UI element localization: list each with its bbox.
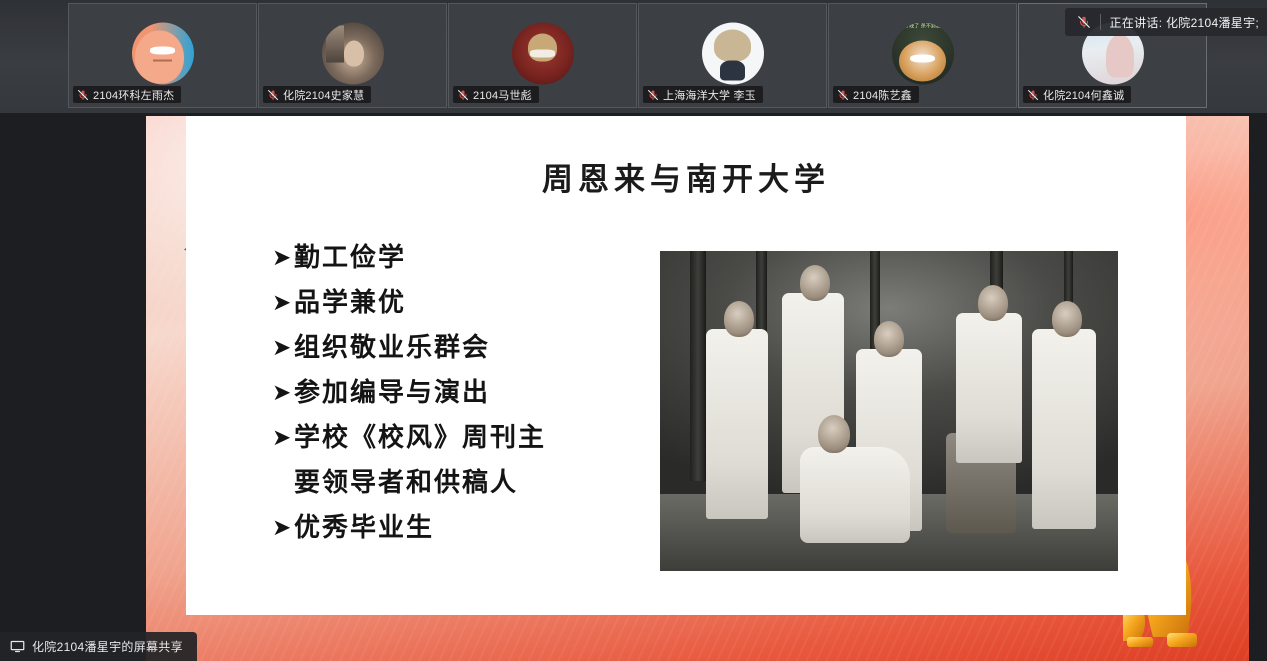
bullet-item: ➤ 勤工俭学 xyxy=(272,241,672,275)
tree xyxy=(690,251,706,481)
participant-name: 2104马世彪 xyxy=(473,87,532,103)
avatar-caption: 今晚了 杀不到我 xyxy=(904,24,940,30)
participant-name: 化院2104何鑫诚 xyxy=(1043,87,1124,103)
bullet-item: ➤ 组织敬业乐群会 xyxy=(272,331,672,365)
bullet-marker-icon: ➤ xyxy=(272,511,294,545)
mic-muted-icon xyxy=(77,89,89,101)
active-speaker-banner: 正在讲话: 化院2104潘星宇; xyxy=(1065,8,1267,36)
avatar xyxy=(702,22,764,84)
bullet-item: ➤ 优秀毕业生 xyxy=(272,511,672,545)
bullet-marker-icon: ➤ xyxy=(272,331,294,365)
bullet-marker-icon: ➤ xyxy=(272,286,294,320)
cat-meme-avatar: 今晚了 杀不到我 xyxy=(892,22,954,84)
bullet-item: ➤ 学校《校风》周刊主 xyxy=(272,421,672,455)
mic-muted-icon xyxy=(267,89,279,101)
participant-name-plate: 2104马世彪 xyxy=(453,86,539,103)
figure-head xyxy=(874,321,904,357)
bullet-text: 学校《校风》周刊主 xyxy=(294,421,546,455)
bullet-text: 组织敬业乐群会 xyxy=(294,331,490,365)
participant-name-plate: 2104陈艺鑫 xyxy=(833,86,919,103)
avatar xyxy=(132,22,194,84)
meeting-window: 2104环科左雨杰 化院2104史家慧 xyxy=(0,0,1267,661)
participant-name-plate: 化院2104何鑫诚 xyxy=(1023,86,1131,103)
mic-muted-icon xyxy=(1077,15,1091,29)
patrick-star-avatar xyxy=(132,22,194,84)
photo-portrait-avatar xyxy=(322,22,384,84)
figure-head xyxy=(1052,301,1082,337)
avatar xyxy=(322,22,384,84)
bullet-item-continuation: 要领导者和供稿人 xyxy=(272,466,672,500)
participant-name: 上海海洋大学 李玉 xyxy=(663,87,756,103)
avatar: 今晚了 杀不到我 xyxy=(892,22,954,84)
screen-share-icon xyxy=(10,640,25,653)
figure-head xyxy=(978,285,1008,321)
bullet-text: 要领导者和供稿人 xyxy=(294,466,518,500)
bullet-text: 勤工俭学 xyxy=(294,241,406,275)
mic-muted-icon xyxy=(457,89,469,101)
figure xyxy=(1032,329,1096,529)
bullet-marker-icon: ➤ xyxy=(272,421,294,455)
mic-muted-icon xyxy=(647,89,659,101)
anime-red-avatar xyxy=(512,22,574,84)
shared-screen-stage: 周恩来与南开大学 ➤ 勤工俭学 ➤ 品学兼优 ➤ 组织敬业乐群会 xyxy=(0,113,1267,661)
bullet-text: 品学兼优 xyxy=(294,286,406,320)
participant-tile[interactable]: 上海海洋大学 李玉 xyxy=(638,3,827,108)
bullet-item: ➤ 参加编导与演出 xyxy=(272,376,672,410)
banner-divider xyxy=(1100,14,1101,30)
figure-head xyxy=(800,265,830,301)
avatar xyxy=(512,22,574,84)
bullet-marker-icon: ➤ xyxy=(272,241,294,275)
bullet-text: 优秀毕业生 xyxy=(294,511,434,545)
screen-share-status-bar: 化院2104潘星宇的屏幕共享 xyxy=(0,632,197,661)
participant-tile[interactable]: 今晚了 杀不到我 2104陈艺鑫 xyxy=(828,3,1017,108)
figure-head xyxy=(724,301,754,337)
mic-muted-icon xyxy=(837,89,849,101)
participant-tile[interactable]: 化院2104史家慧 xyxy=(258,3,447,108)
active-speaker-text: 正在讲话: 化院2104潘星宇; xyxy=(1110,14,1260,31)
participant-tile[interactable]: 2104马世彪 xyxy=(448,3,637,108)
slide-title: 周恩来与南开大学 xyxy=(186,154,1186,199)
figure xyxy=(706,329,768,519)
presentation-slide: 周恩来与南开大学 ➤ 勤工俭学 ➤ 品学兼优 ➤ 组织敬业乐群会 xyxy=(146,116,1249,661)
slide-content-card: 周恩来与南开大学 ➤ 勤工俭学 ➤ 品学兼优 ➤ 组织敬业乐群会 xyxy=(186,116,1186,615)
bullet-marker-icon: ➤ xyxy=(272,376,294,410)
mic-muted-icon xyxy=(1027,89,1039,101)
participant-name: 2104陈艺鑫 xyxy=(853,87,912,103)
figure xyxy=(956,313,1022,463)
participant-name: 2104环科左雨杰 xyxy=(93,87,174,103)
figure-seated xyxy=(800,447,910,543)
participant-name-plate: 化院2104史家慧 xyxy=(263,86,371,103)
slide-bullet-list: ➤ 勤工俭学 ➤ 品学兼优 ➤ 组织敬业乐群会 ➤ 参加编导与演出 xyxy=(272,241,672,556)
screen-share-text: 化院2104潘星宇的屏幕共享 xyxy=(32,638,183,655)
figure-head xyxy=(818,415,850,453)
bullet-text: 参加编导与演出 xyxy=(294,376,490,410)
participant-name-plate: 上海海洋大学 李玉 xyxy=(643,86,763,103)
bullet-item: ➤ 品学兼优 xyxy=(272,286,672,320)
anime-chibi-avatar xyxy=(702,22,764,84)
participant-name: 化院2104史家慧 xyxy=(283,87,364,103)
participant-tile[interactable]: 2104环科左雨杰 xyxy=(68,3,257,108)
participant-name-plate: 2104环科左雨杰 xyxy=(73,86,181,103)
historical-group-photo xyxy=(660,251,1118,571)
